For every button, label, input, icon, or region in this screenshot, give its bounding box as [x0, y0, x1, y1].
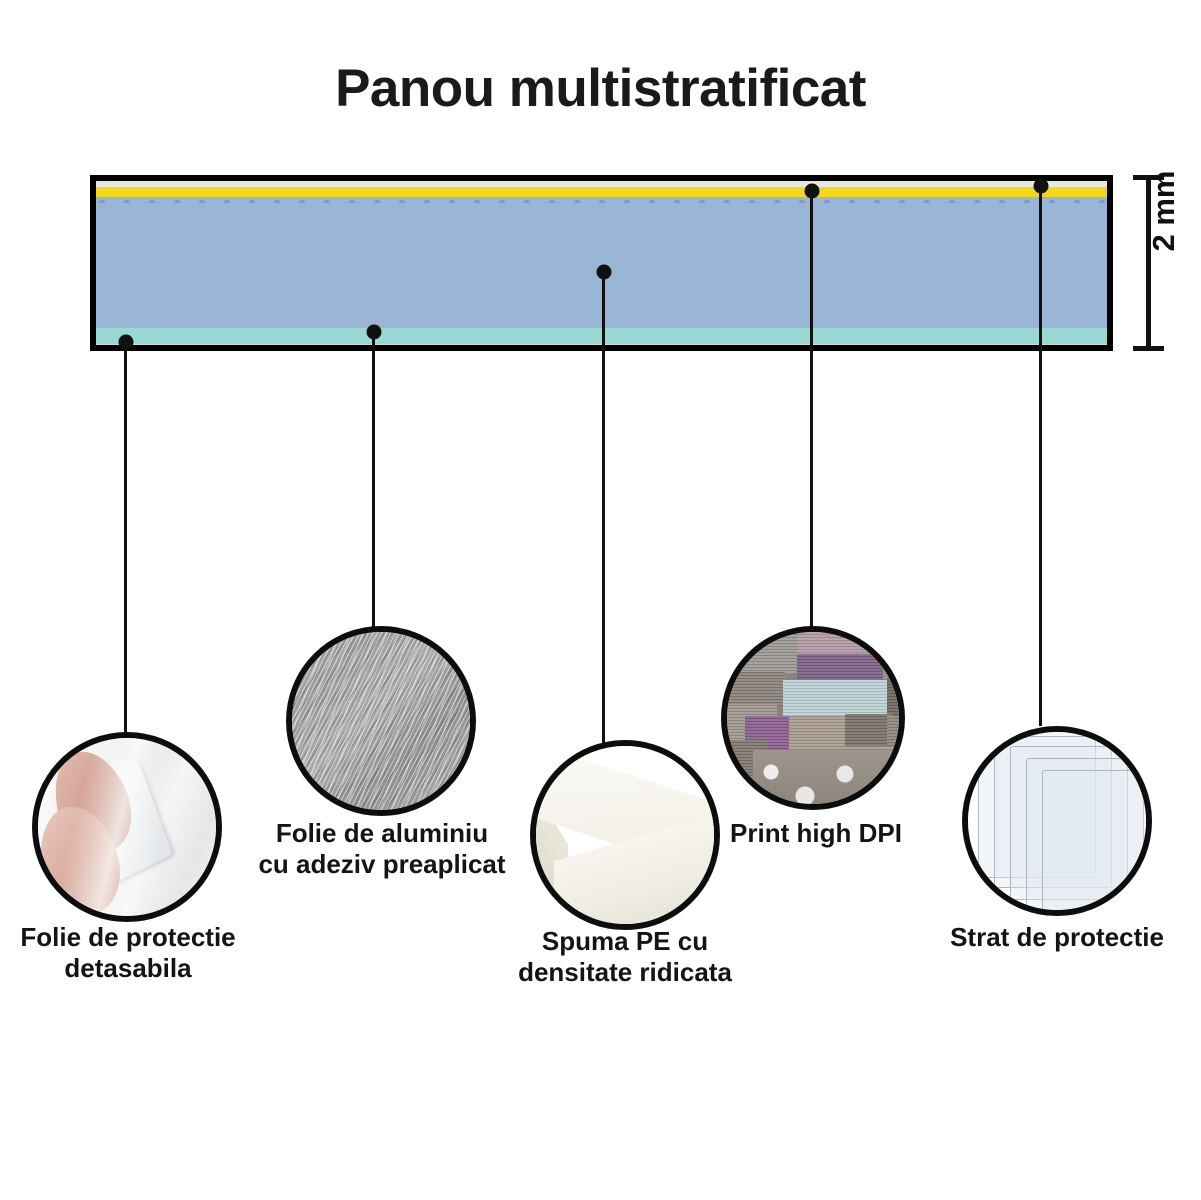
leader-line-print — [810, 191, 813, 631]
layer-adhesive — [96, 187, 1107, 197]
callout-label-pe-foam: Spuma PE cu densitate ridicata — [475, 926, 775, 987]
dimension-label: 2 mm — [1146, 126, 1182, 296]
callout-label-aluminium: Folie de aluminiu cu adeziv preaplicat — [232, 818, 532, 879]
layer-core-texture — [96, 197, 1107, 203]
callout-bubble-peel-film[interactable] — [32, 732, 222, 922]
leader-line-pe-foam — [602, 272, 605, 746]
callout-label-protection-line1: Strat de protectie — [912, 922, 1201, 953]
leader-line-protection — [1039, 186, 1042, 726]
callout-bubble-protection[interactable] — [962, 726, 1152, 916]
leader-dot-peel-film — [119, 335, 134, 350]
leader-dot-pe-foam — [597, 265, 612, 280]
callout-bubble-aluminium[interactable] — [286, 626, 476, 816]
protective-sheets-icon — [968, 732, 1146, 910]
leader-dot-print — [805, 184, 820, 199]
high-dpi-print-icon — [727, 632, 899, 804]
dimension-cap-bottom — [1133, 346, 1164, 351]
leader-line-peel-film — [124, 342, 127, 738]
infographic-canvas: Panou multistratificat 2 mm F — [0, 0, 1201, 1200]
aluminium-foil-icon — [292, 632, 470, 810]
callout-label-pe-foam-line1: Spuma PE cu — [475, 926, 775, 957]
leader-dot-protection — [1034, 179, 1049, 194]
callout-label-peel-film-line2: detasabila — [0, 953, 256, 984]
callout-label-protection: Strat de protectie — [912, 922, 1201, 953]
callout-label-peel-film-line1: Folie de protectie — [0, 922, 256, 953]
peel-film-icon — [38, 738, 216, 916]
leader-line-aluminium — [372, 332, 375, 632]
callout-label-pe-foam-line2: densitate ridicata — [475, 957, 775, 988]
callout-bubble-print[interactable] — [721, 626, 905, 810]
callout-label-print: Print high DPI — [676, 818, 956, 849]
callout-label-peel-film: Folie de protectie detasabila — [0, 922, 256, 983]
callout-label-print-line1: Print high DPI — [676, 818, 956, 849]
callout-label-aluminium-line1: Folie de aluminiu — [232, 818, 532, 849]
leader-dot-aluminium — [367, 325, 382, 340]
page-title: Panou multistratificat — [0, 58, 1201, 119]
callout-label-aluminium-line2: cu adeziv preaplicat — [232, 849, 532, 880]
